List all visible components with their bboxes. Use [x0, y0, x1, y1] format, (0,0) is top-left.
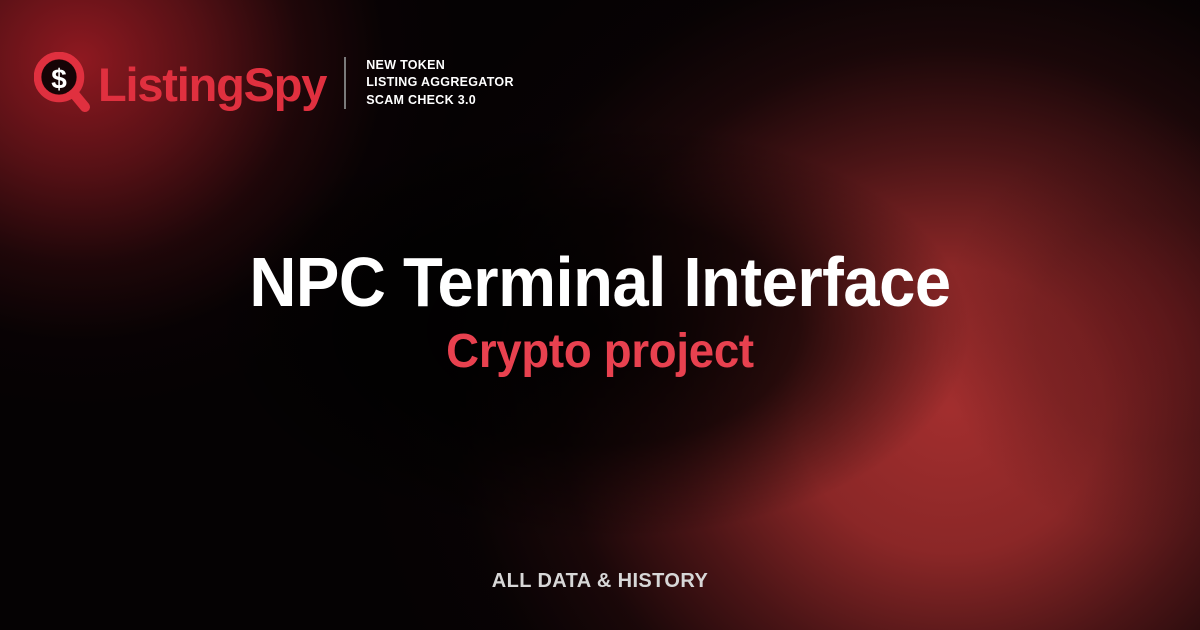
svg-text:$: $ [51, 64, 67, 95]
banner-canvas: $ ListingSpy NEW TOKEN LISTING AGGREGATO… [0, 0, 1200, 630]
page-title: NPC Terminal Interface [42, 246, 1158, 319]
brand-wordmark: ListingSpy [98, 61, 326, 108]
footer-block: ALL DATA & HISTORY [0, 570, 1200, 593]
page-subtitle: Crypto project [30, 327, 1170, 377]
tagline-line-2: LISTING AGGREGATOR [366, 75, 514, 90]
brand-tagline: NEW TOKEN LISTING AGGREGATOR SCAM CHECK … [366, 58, 514, 108]
tagline-line-1: NEW TOKEN [366, 58, 514, 73]
hero-block: NPC Terminal Interface Crypto project [0, 246, 1200, 377]
footer-caption: ALL DATA & HISTORY [0, 570, 1200, 593]
magnifier-dollar-icon: $ [34, 52, 92, 114]
brand-logo-lockup[interactable]: $ ListingSpy NEW TOKEN LISTING AGGREGATO… [34, 52, 514, 114]
logo-divider [344, 57, 346, 109]
tagline-line-3: SCAM CHECK 3.0 [366, 93, 514, 108]
